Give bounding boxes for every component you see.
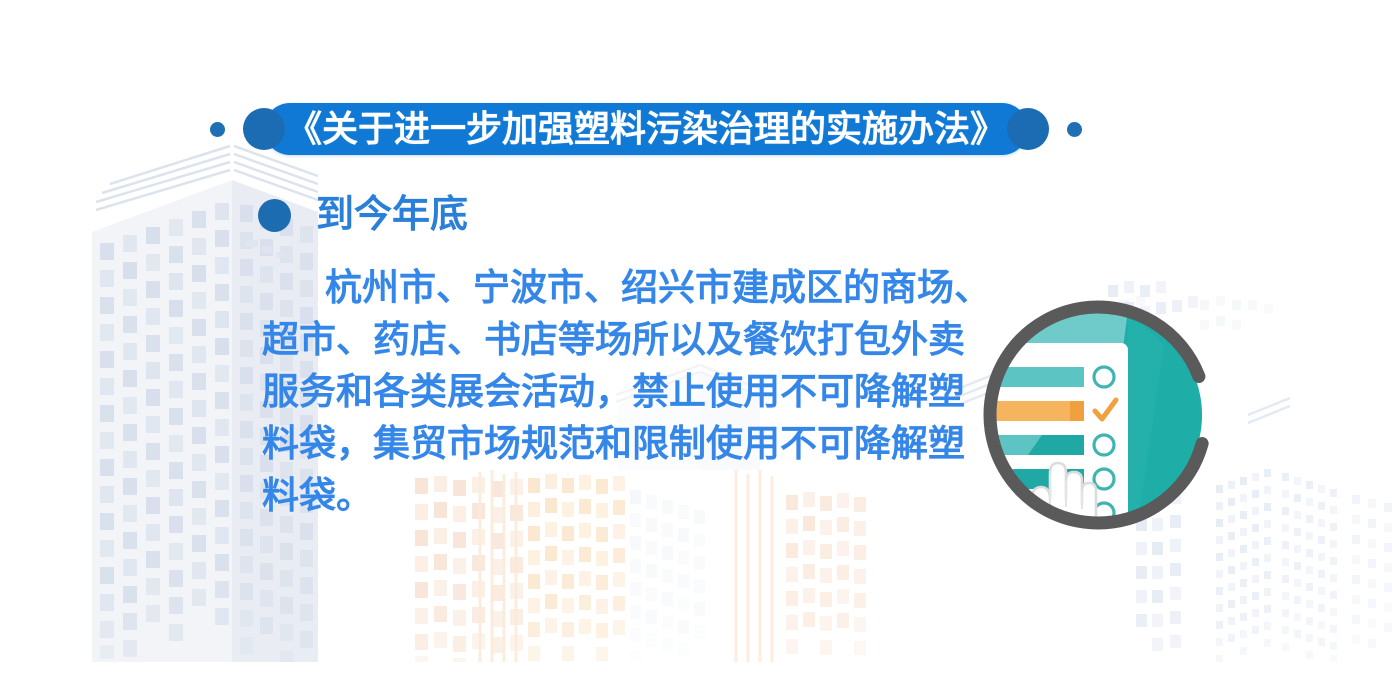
- poster-canvas: 《关于进一步加强塑料污染治理的实施办法》 到今年底 杭州市、宁波市、绍兴市建成区…: [0, 0, 1400, 700]
- subtitle-label: 到今年底: [316, 196, 468, 234]
- body-paragraph: 杭州市、宁波市、绍兴市建成区的商场、 超市、药店、书店等场所以及餐饮打包外卖 服…: [262, 262, 962, 522]
- decor-dashes: [246, 240, 284, 258]
- dot-icon-left: [243, 108, 285, 150]
- banner-bar: 《关于进一步加强塑料污染治理的实施办法》: [264, 103, 1028, 155]
- bullet-dot-icon: [258, 199, 291, 232]
- body-line-2: 超市、药店、书店等场所以及餐饮打包外卖: [262, 314, 962, 366]
- body-line-1: 杭州市、宁波市、绍兴市建成区的商场、: [262, 262, 962, 314]
- dot-icon-right: [1007, 108, 1049, 150]
- body-line-4: 料袋，集贸市场规范和限制使用不可降解塑: [262, 418, 962, 470]
- dot-icon-far-left: [210, 122, 225, 137]
- subtitle-row: 到今年底: [258, 196, 468, 234]
- body-line-5: 料袋。: [262, 470, 962, 522]
- title-banner: 《关于进一步加强塑料污染治理的实施办法》: [210, 96, 1082, 162]
- dot-icon-far-right: [1067, 122, 1082, 137]
- page-title: 《关于进一步加强塑料污染治理的实施办法》: [286, 111, 1006, 147]
- body-line-3: 服务和各类展会活动，禁止使用不可降解塑: [262, 366, 962, 418]
- checklist-circle-illustration: [978, 295, 1218, 535]
